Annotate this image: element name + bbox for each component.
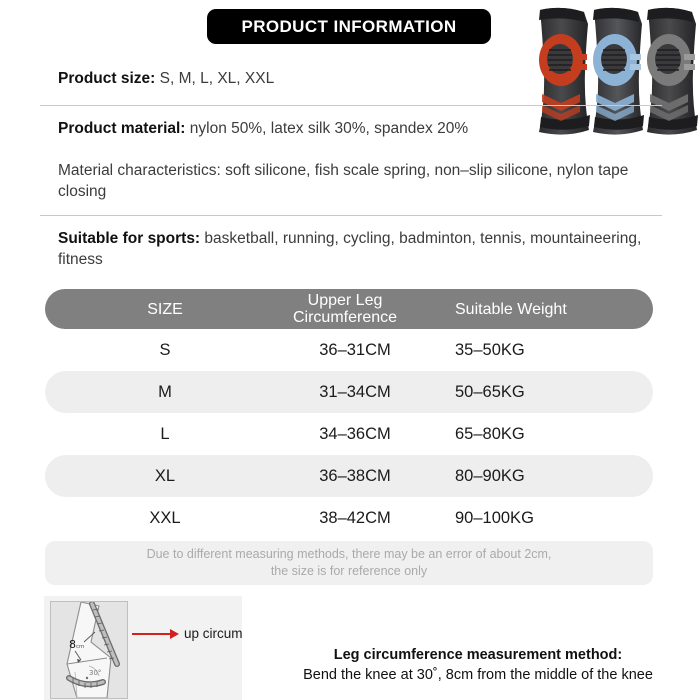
row-weight: 90–100KG [455,509,645,528]
row-size: M [75,383,255,402]
spec-suitable-sports: Suitable for sports: basketball, running… [58,228,648,270]
product-photo [530,2,698,150]
divider-middle [40,215,662,216]
spec-material-characteristics: Material characteristics: soft silicone,… [58,160,648,202]
table-row: XXL 38–42CM 90–100KG [45,497,653,539]
arrow-label: up circum [184,626,243,641]
note-line-1: Due to different measuring methods, ther… [147,546,552,563]
measurement-method-title: Leg circumference measurement method: [268,645,688,665]
row-size: XXL [75,509,255,528]
row-size: XL [75,467,255,486]
row-circumference: 36–38CM [260,467,450,486]
table-row: M 31–34CM 50–65KG [45,371,653,413]
table-row: S 36–31CM 35–50KG [45,329,653,371]
diagram-distance-unit: cm [76,644,84,650]
header-cell-circ-line2: Circumference [250,309,440,326]
header-cell-size: SIZE [75,301,255,318]
table-row: L 34–36CM 65–80KG [45,413,653,455]
arrow-line [132,633,170,635]
row-circumference: 38–42CM [260,509,450,528]
arrow-right-icon [170,629,179,639]
row-weight: 50–65KG [455,383,645,402]
header-cell-upper-leg-circumference: Upper Leg Circumference [250,292,440,326]
spec-product-material-value: nylon 50%, latex silk 30%, spandex 20% [185,120,468,137]
spec-product-size-value: S, M, L, XL, XXL [155,70,274,87]
row-weight: 65–80KG [455,425,645,444]
up-circum-callout: up circum [132,626,243,641]
knee-brace-photo-svg [530,2,698,150]
row-weight: 80–90KG [455,467,645,486]
spec-product-material: Product material: nylon 50%, latex silk … [58,118,468,139]
measurement-method-text: Leg circumference measurement method: Be… [268,645,688,685]
row-circumference: 36–31CM [260,341,450,360]
spec-suitable-sports-label: Suitable for sports: [58,230,200,247]
row-circumference: 34–36CM [260,425,450,444]
row-size: S [75,341,255,360]
spec-product-size-label: Product size: [58,70,155,87]
measurement-method-detail: Bend the knee at 30˚, 8cm from the middl… [268,665,688,685]
product-information-banner: PRODUCT INFORMATION [207,9,491,44]
table-header-row: SIZE Upper Leg Circumference Suitable We… [45,289,653,329]
spec-product-size: Product size: S, M, L, XL, XXL [58,68,274,89]
measurement-diagram-panel: 8 cm 30° up circum [44,596,242,700]
divider-top [40,105,662,106]
leg-measurement-illustration: 8 cm 30° [50,601,128,699]
spec-product-material-label: Product material: [58,120,185,137]
red-knee-brace [539,8,590,135]
blue-knee-brace [593,8,644,135]
table-row: XL 36–38CM 80–90KG [45,455,653,497]
header-cell-suitable-weight: Suitable Weight [455,301,655,318]
size-table: SIZE Upper Leg Circumference Suitable We… [45,289,653,585]
row-weight: 35–50KG [455,341,645,360]
row-circumference: 31–34CM [260,383,450,402]
gray-knee-brace [647,8,698,135]
header-cell-circ-line1: Upper Leg [250,292,440,309]
size-disclaimer-note: Due to different measuring methods, ther… [45,541,653,585]
note-line-2: the size is for reference only [271,563,427,580]
leg-diagram-icon: 8 cm 30° [51,602,127,698]
banner-title: PRODUCT INFORMATION [241,17,456,37]
row-size: L [75,425,255,444]
diagram-distance-label: 8 [69,638,76,651]
diagram-angle-label: 30° [89,669,101,677]
